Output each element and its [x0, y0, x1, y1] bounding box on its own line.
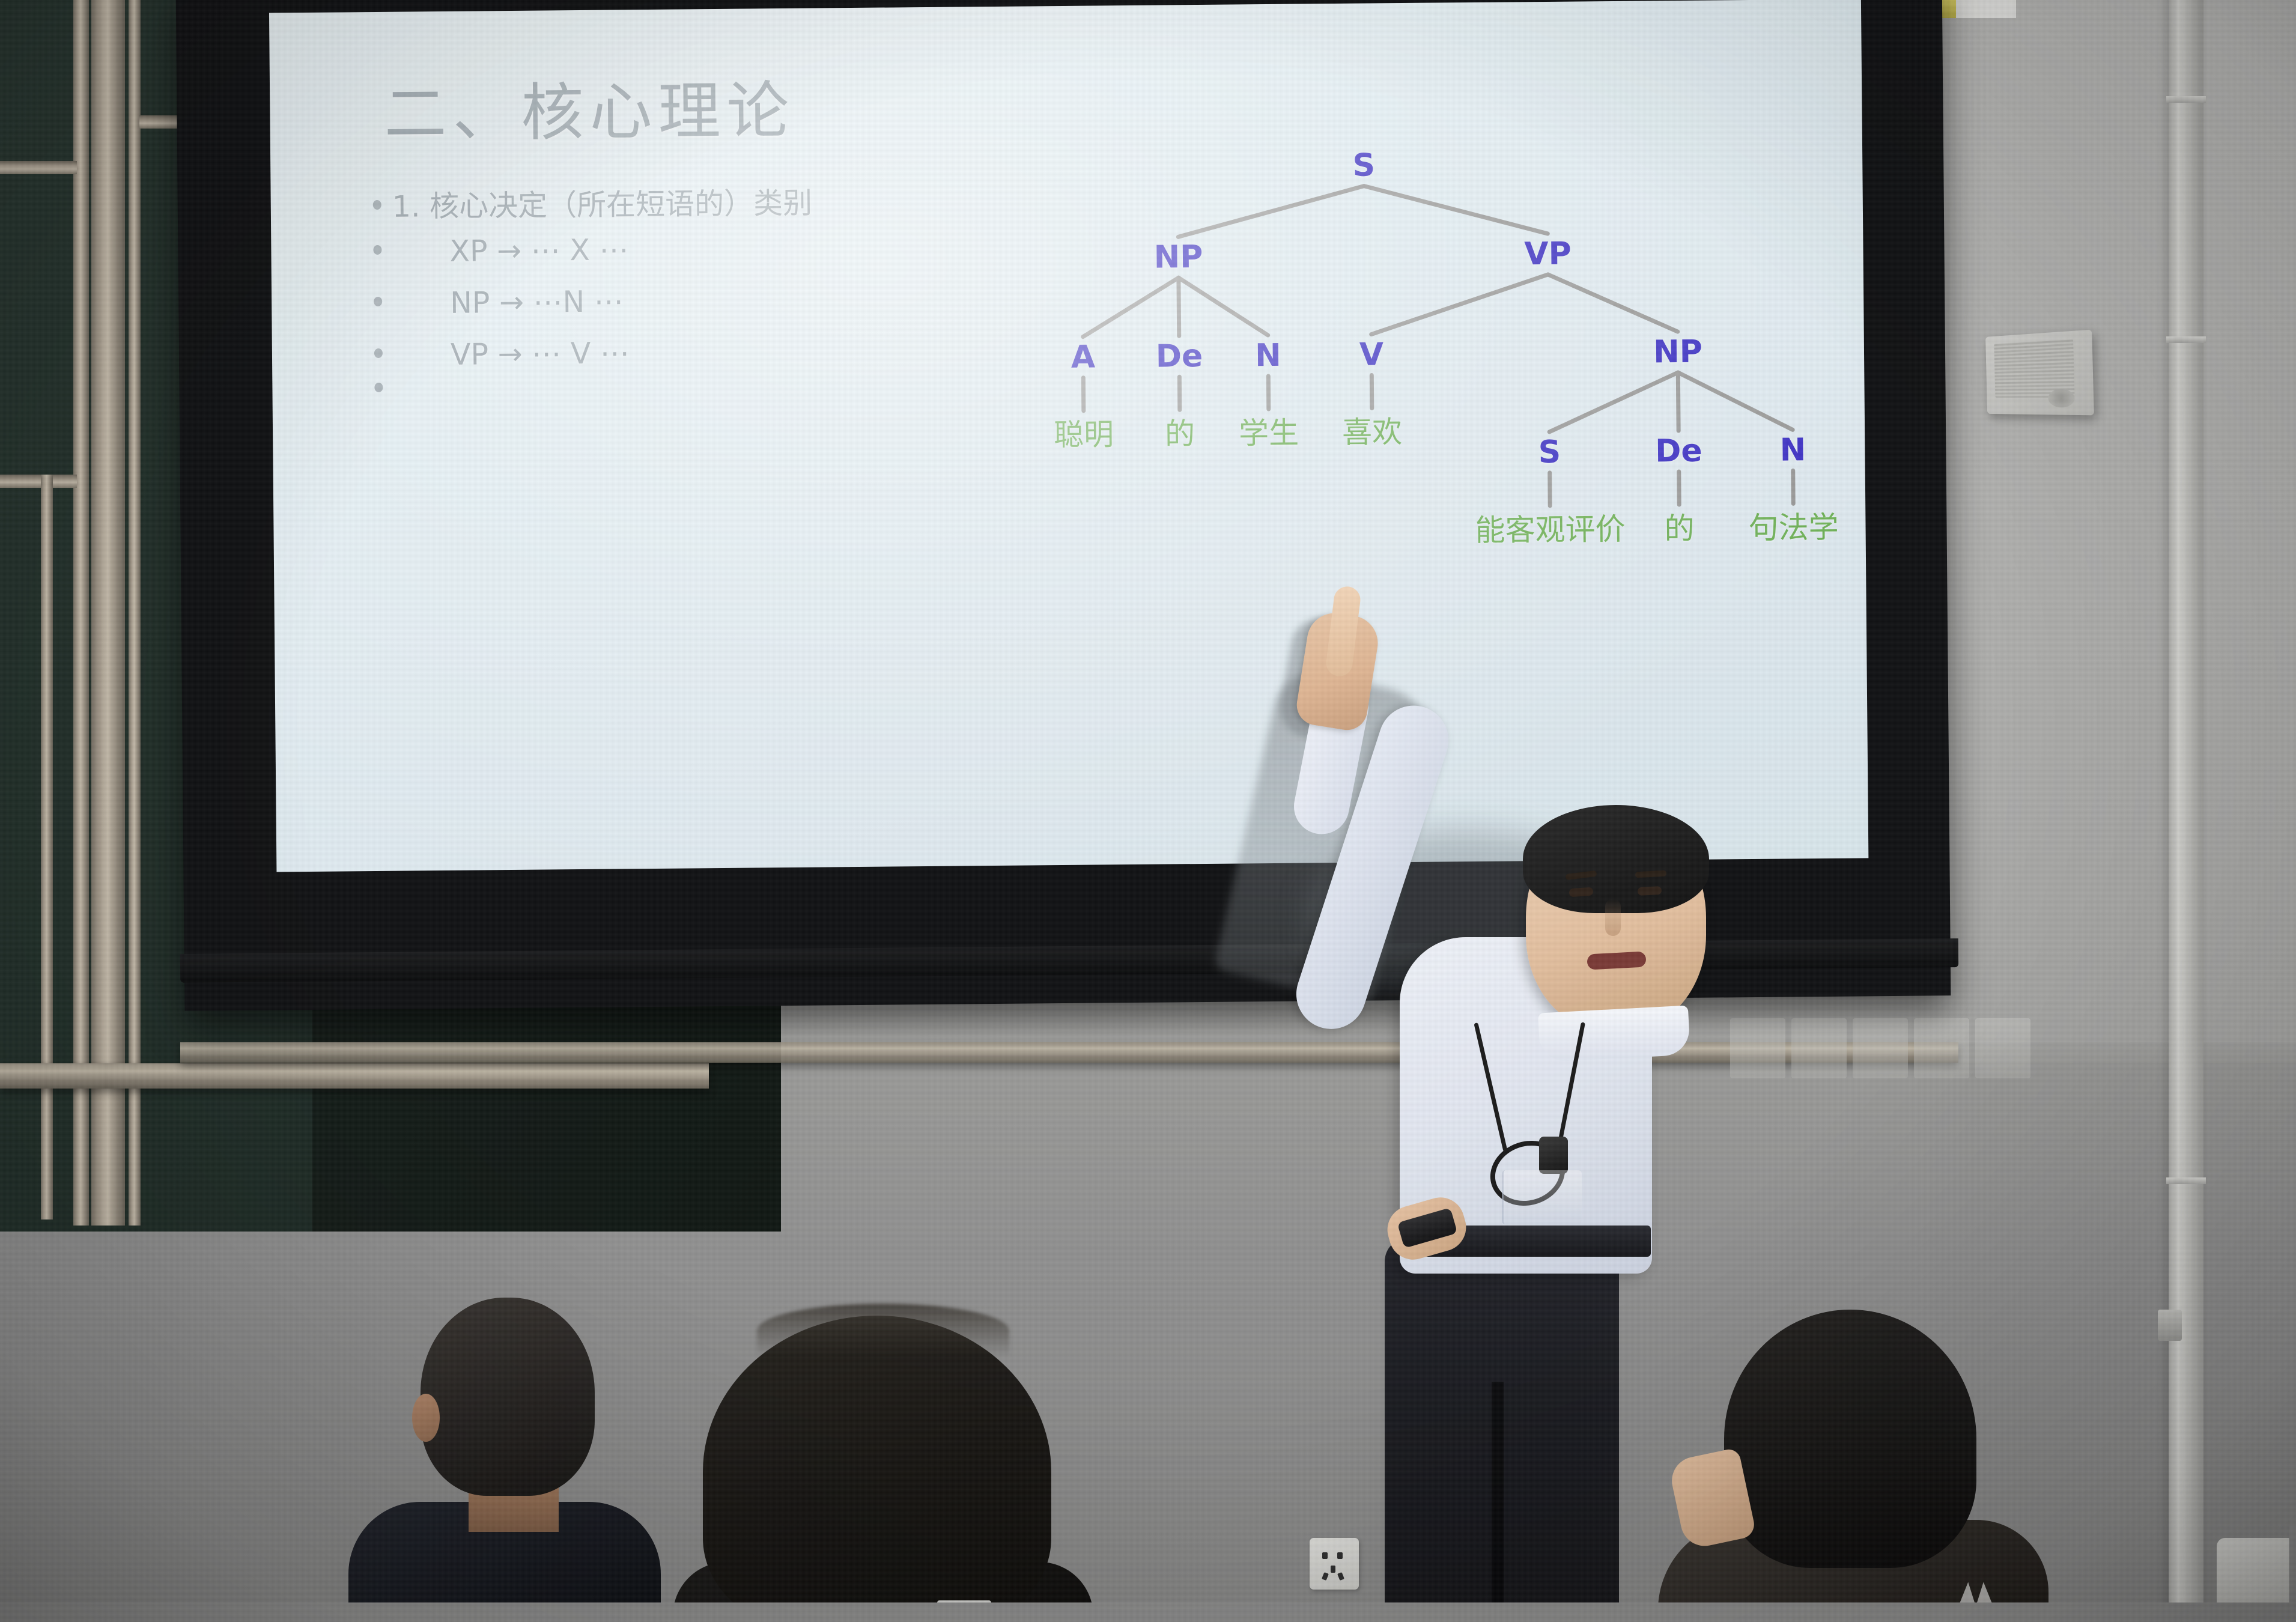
lavalier-microphone-icon [1539, 1137, 1568, 1174]
student-left-head [421, 1298, 595, 1496]
student-center-hair [703, 1316, 1051, 1622]
tree-edge [1678, 371, 1793, 431]
bullet-text-5 [394, 399, 451, 399]
presenter-mouth [1587, 951, 1646, 970]
tree-node-n1: N [1255, 338, 1281, 374]
chalkboard-rail-left-thin [129, 0, 141, 1226]
switch-2[interactable] [1791, 1018, 1847, 1078]
conduit-seam-upper [2166, 96, 2206, 103]
screen-ledge [180, 1042, 1958, 1063]
tree-edge [1179, 277, 1268, 336]
student-center-hair-top [757, 1304, 1009, 1358]
tree-edge [1083, 278, 1179, 336]
outlet-slot-3 [1331, 1566, 1335, 1573]
bullet-dot-icon [373, 200, 381, 210]
student-left-ear [412, 1394, 440, 1442]
tree-leaf-1: 的 [1165, 410, 1195, 453]
presenter-nose [1605, 899, 1621, 936]
presenter-shirt-collar [1538, 1006, 1690, 1063]
chalkboard-rail-h-upper [0, 161, 77, 174]
bullet-dot-icon [374, 297, 382, 306]
bullet-text-1: 1. 核心决定（所在短语的）类别 [392, 180, 812, 226]
tree-leaf-5: 的 [1664, 505, 1695, 548]
wall-speaker [1985, 330, 2094, 416]
conduit-seam-mid [2166, 336, 2206, 343]
chalkboard-rail-inner [41, 475, 53, 1220]
tree-node-vp: VP [1524, 236, 1572, 273]
outlet-slot-4 [1322, 1572, 1329, 1581]
bullet-dot-icon [374, 383, 383, 392]
tree-edge [1178, 186, 1365, 237]
tree-edge [1549, 372, 1678, 432]
tree-node-np1: NP [1154, 239, 1203, 276]
white-label-tag [1956, 0, 2016, 18]
presentation-slide: 二、核心理论 1. 核心决定（所在短语的）类别 XP → ⋯ X ⋯ NP → … [269, 0, 1868, 872]
presenter-hair [1523, 805, 1709, 913]
tree-edge [1548, 273, 1678, 333]
chalkboard-rail-left-wide [91, 0, 125, 1226]
presenter-trousers [1385, 1238, 1619, 1622]
tree-node-de1: De [1156, 338, 1203, 375]
desk-edge [937, 1600, 991, 1622]
tree-node-a: A [1071, 339, 1096, 375]
switch-5[interactable] [1975, 1018, 2030, 1078]
outlet-slot-5 [1337, 1572, 1344, 1581]
presenter-shirt-pocket [1502, 1170, 1582, 1224]
conduit-seam-lower [2166, 1177, 2206, 1184]
tree-node-de2: De [1655, 433, 1702, 470]
speaker-tweeter [2048, 389, 2075, 407]
presenter-eye-right [1638, 886, 1662, 896]
bullet-dot-icon [373, 245, 381, 255]
bullet-dot-icon [374, 348, 383, 358]
chalkboard-rail-left [73, 0, 89, 1226]
tree-leaf-6: 句法学 [1748, 503, 1839, 547]
tree-leaf-4: 能客观评价 [1475, 505, 1626, 550]
outlet-slot-2 [1337, 1552, 1343, 1559]
chalkboard-rail-h-mid [0, 475, 77, 488]
tree-edge [1371, 275, 1549, 335]
tree-leaf-0: 聪明 [1054, 410, 1114, 454]
tree-edge [1364, 184, 1548, 235]
chalk-tray [0, 1063, 709, 1089]
light-switch-panel[interactable] [1730, 1018, 2030, 1078]
tree-node-n2: N [1779, 432, 1806, 468]
tree-node-v: V [1359, 336, 1384, 372]
bullet-text-4: VP → ⋯ V ⋯ [393, 336, 630, 372]
switch-1[interactable] [1730, 1018, 1785, 1078]
wall-conduit-pipe [2169, 0, 2203, 1622]
student-right-hair [1724, 1310, 1976, 1568]
tree-node-np2: NP [1653, 334, 1702, 371]
tree-node-s: S [1352, 147, 1375, 183]
power-outlet[interactable] [1310, 1538, 1359, 1590]
bullet-text-2: XP → ⋯ X ⋯ [392, 232, 629, 269]
switch-3[interactable] [1853, 1018, 1908, 1078]
chair-backrest [2217, 1538, 2296, 1622]
bullet-text-3: NP → ⋯N ⋯ [393, 284, 624, 320]
tree-node-s2: S [1538, 434, 1561, 470]
tree-leaf-2: 学生 [1239, 409, 1299, 453]
switch-4[interactable] [1914, 1018, 1969, 1078]
tree-edge [1179, 278, 1179, 336]
presenter-eye-left [1569, 887, 1594, 898]
classroom-scene: 二、核心理论 1. 核心决定（所在短语的）类别 XP → ⋯ X ⋯ NP → … [0, 0, 2296, 1622]
tree-edge [1678, 372, 1678, 431]
slide-title: 二、核心理论 [384, 59, 795, 154]
conduit-bracket [2158, 1310, 2182, 1341]
outlet-slot-1 [1322, 1552, 1328, 1559]
tree-leaf-3: 喜欢 [1342, 408, 1403, 452]
